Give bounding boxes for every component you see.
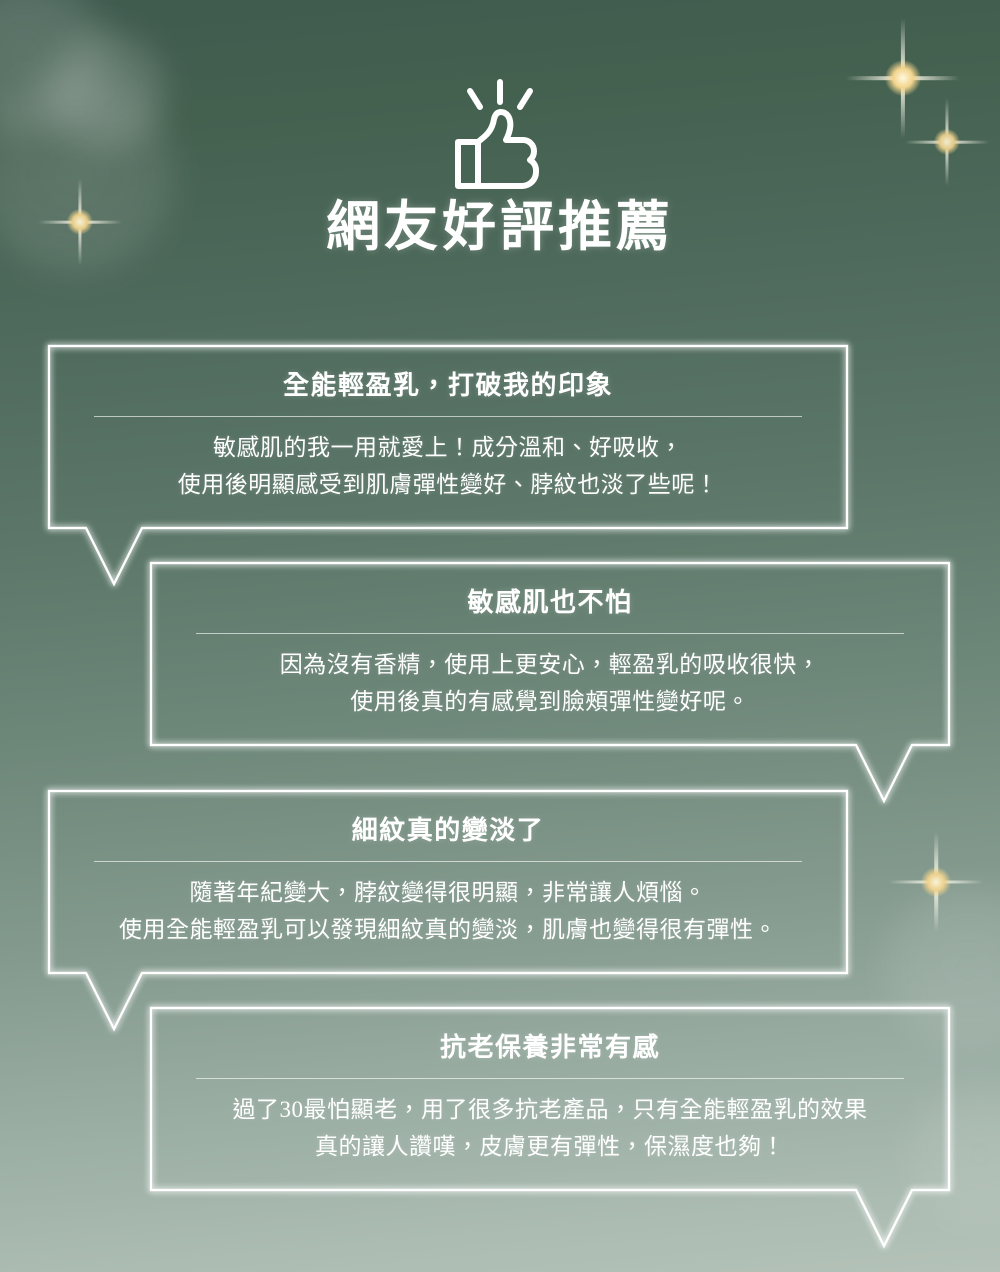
testimonial-body: 隨著年紀變大，脖紋變得很明顯，非常讓人煩惱。使用全能輕盈乳可以發現細紋真的變淡，…: [82, 874, 814, 949]
promo-page: 網友好評推薦 全能輕盈乳，打破我的印象敏感肌的我一用就愛上！成分溫和、好吸收，使…: [0, 0, 1000, 1272]
thumbs-up-icon: [0, 78, 1000, 190]
divider: [94, 416, 802, 417]
testimonial-line: 使用全能輕盈乳可以發現細紋真的變淡，肌膚也變得很有彈性。: [82, 911, 814, 948]
testimonial-title: 抗老保養非常有感: [184, 1031, 916, 1065]
testimonial-card: 全能輕盈乳，打破我的印象敏感肌的我一用就愛上！成分溫和、好吸收，使用後明顯感受到…: [48, 345, 848, 529]
testimonial-title: 全能輕盈乳，打破我的印象: [82, 369, 814, 403]
divider: [196, 1078, 904, 1079]
testimonial-line: 隨著年紀變大，脖紋變得很明顯，非常讓人煩惱。: [82, 874, 814, 911]
page-title: 網友好評推薦: [0, 198, 1000, 257]
testimonial-body: 過了30最怕顯老，用了很多抗老產品，只有全能輕盈乳的效果真的讓人讚嘆，皮膚更有彈…: [184, 1091, 916, 1166]
testimonial-title: 敏感肌也不怕: [184, 586, 916, 620]
testimonial-line: 使用後真的有感覺到臉頰彈性變好呢。: [184, 683, 916, 720]
divider: [196, 633, 904, 634]
testimonial-body: 敏感肌的我一用就愛上！成分溫和、好吸收，使用後明顯感受到肌膚彈性變好、脖紋也淡了…: [82, 429, 814, 504]
testimonial-card: 細紋真的變淡了隨著年紀變大，脖紋變得很明顯，非常讓人煩惱。使用全能輕盈乳可以發現…: [48, 790, 848, 974]
testimonial-title: 細紋真的變淡了: [82, 814, 814, 848]
testimonial-line: 過了30最怕顯老，用了很多抗老產品，只有全能輕盈乳的效果: [184, 1091, 916, 1128]
testimonial-line: 真的讓人讚嘆，皮膚更有彈性，保濕度也夠！: [184, 1128, 916, 1165]
sparkle-icon: [886, 832, 986, 932]
testimonial-line: 使用後明顯感受到肌膚彈性變好、脖紋也淡了些呢！: [82, 466, 814, 503]
page-header: 網友好評推薦: [0, 0, 1000, 257]
testimonial-line: 敏感肌的我一用就愛上！成分溫和、好吸收，: [82, 429, 814, 466]
divider: [94, 861, 802, 862]
testimonial-line: 因為沒有香精，使用上更安心，輕盈乳的吸收很快，: [184, 646, 916, 683]
testimonial-card: 抗老保養非常有感過了30最怕顯老，用了很多抗老產品，只有全能輕盈乳的效果真的讓人…: [150, 1007, 950, 1191]
testimonial-body: 因為沒有香精，使用上更安心，輕盈乳的吸收很快，使用後真的有感覺到臉頰彈性變好呢。: [184, 646, 916, 721]
testimonial-card: 敏感肌也不怕因為沒有香精，使用上更安心，輕盈乳的吸收很快，使用後真的有感覺到臉頰…: [150, 562, 950, 746]
